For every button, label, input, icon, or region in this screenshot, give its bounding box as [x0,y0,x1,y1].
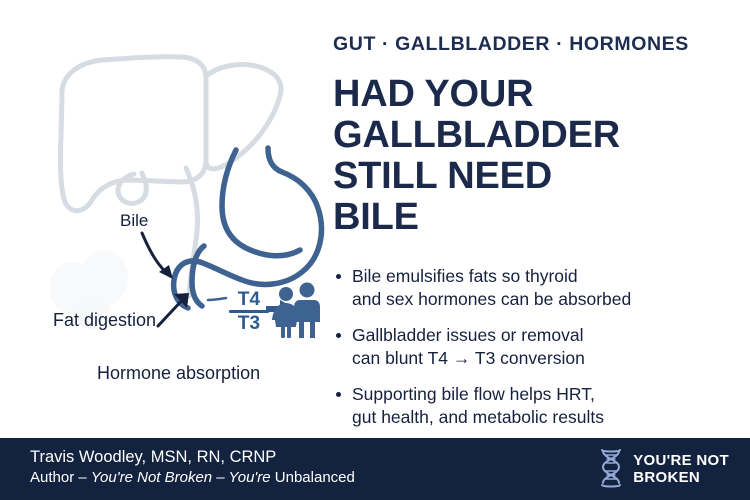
logo-line-1: YOU'RE NOT [633,452,729,469]
dna-helix-icon [598,449,624,489]
headline-line-2: GALLBLADDER [333,115,620,156]
logo-line-2: BROKEN [633,469,729,486]
list-item: Bile emulsifies fats so thyroid and sex … [333,265,733,311]
bullet-dot-icon [336,274,341,279]
bullet-dot-icon [336,392,341,397]
eyebrow-kicker: GUT · GALLBLADDER · HORMONES [333,33,689,56]
author-credit: Author – You're Not Broken – You're Unba… [30,468,355,488]
author-name: Travis Woodley, MSN, RN, CRNP [30,447,355,468]
bullet-line-2: can blunt T4 → T3 conversion [352,347,733,370]
footer-bar: Travis Woodley, MSN, RN, CRNP Author – Y… [0,438,750,500]
male-female-figures-icon [272,283,320,339]
logo-text: YOU'RE NOT BROKEN [633,452,729,486]
anatomy-illustration: Bile Fat digestion Hormone absorption T4… [0,0,330,438]
t4-connector-line [208,298,226,300]
bullet-line-1: Supporting bile flow helps HRT, [352,384,595,404]
book-title-italic: You're Not Broken – You're [91,469,271,486]
bullet-line-2: and sex hormones can be absorbed [352,288,733,311]
author-block: Travis Woodley, MSN, RN, CRNP Author – Y… [30,447,355,488]
bullet-line-2: gut health, and metabolic results [352,406,733,429]
headline: HAD YOUR GALLBLADDER STILL NEED BILE [333,74,620,238]
headline-line-4: BILE [333,197,620,238]
bullet-list: Bile emulsifies fats so thyroid and sex … [333,265,733,442]
label-bile: Bile [120,211,148,231]
text-content: GUT · GALLBLADDER · HORMONES HAD YOUR GA… [333,0,733,438]
brand-logo[interactable]: YOU'RE NOT BROKEN [598,449,729,489]
fat-digestion-arrow-icon [158,293,189,326]
t4-label: T4 [228,289,270,310]
list-item: Supporting bile flow helps HRT, gut heal… [333,383,733,429]
t4-t3-ratio: T4 T3 [228,289,270,334]
label-hormone-absorption: Hormone absorption [97,363,260,384]
infographic-canvas: Bile Fat digestion Hormone absorption T4… [0,0,750,500]
bile-curved-arrow-icon [142,233,173,279]
label-fat-digestion: Fat digestion [53,310,156,331]
bullet-line-1: Bile emulsifies fats so thyroid [352,266,578,286]
author-prefix: Author – [30,469,91,486]
list-item: Gallbladder issues or removal can blunt … [333,324,733,370]
headline-line-3: STILL NEED [333,156,620,197]
t3-label: T3 [228,313,270,334]
book-title-tail: Unbalanced [271,469,355,486]
bullet-line-1: Gallbladder issues or removal [352,325,584,345]
bullet-dot-icon [336,333,341,338]
headline-line-1: HAD YOUR [333,74,620,115]
gallbladder-outline-icon [118,173,146,203]
